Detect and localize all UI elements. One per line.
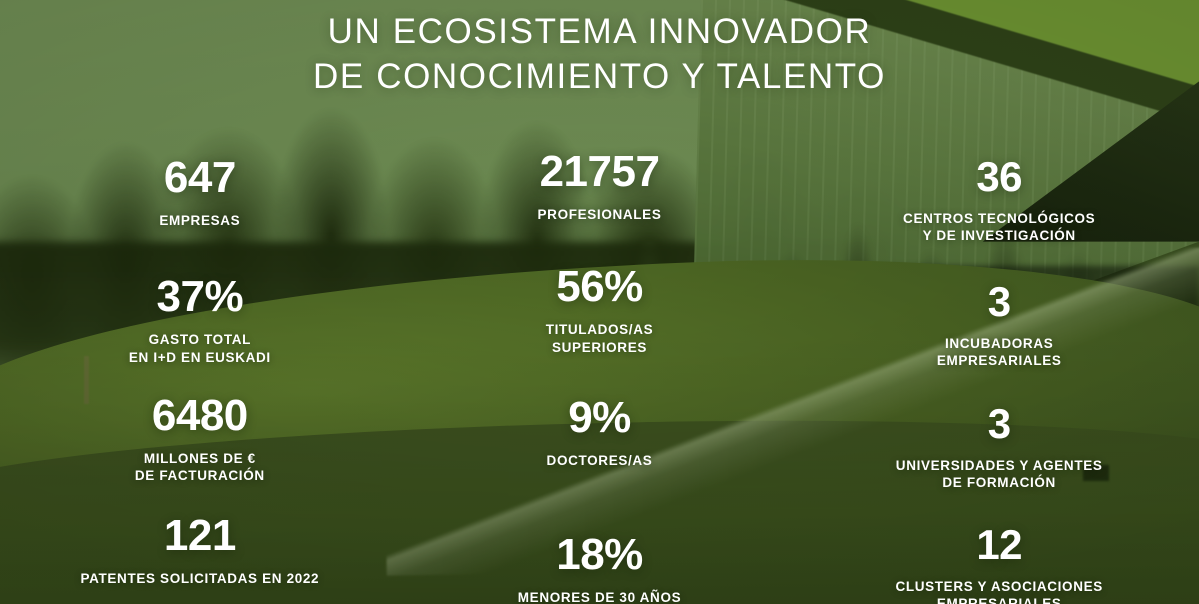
stat-label: MILLONES DE € DE FACTURACIÓN xyxy=(0,450,400,485)
stat-value: 647 xyxy=(0,156,400,200)
stat-label-line-1: CLUSTERS Y ASOCIACIONES xyxy=(799,578,1199,595)
stat-label: PROFESIONALES xyxy=(400,206,800,223)
stat-label: EMPRESAS xyxy=(0,212,400,229)
stat-value: 3 xyxy=(799,403,1199,445)
stats-column-3: 36 CENTROS TECNOLÓGICOS Y DE INVESTIGACI… xyxy=(799,150,1199,604)
stat-label: PATENTES SOLICITADAS EN 2022 xyxy=(0,570,400,587)
stat-patentes: 121 PATENTES SOLICITADAS EN 2022 xyxy=(0,514,400,587)
stat-centros-tecnologicos: 36 CENTROS TECNOLÓGICOS Y DE INVESTIGACI… xyxy=(799,156,1199,245)
stat-label: DOCTORES/AS xyxy=(400,452,800,469)
stat-value: 121 xyxy=(0,514,400,558)
slide-content: UN ECOSISTEMA INNOVADOR DE CONOCIMIENTO … xyxy=(0,0,1199,604)
stat-millones-facturacion: 6480 MILLONES DE € DE FACTURACIÓN xyxy=(0,394,400,485)
stat-label-line-1: EMPRESAS xyxy=(0,212,400,229)
stat-label: TITULADOS/AS SUPERIORES xyxy=(400,321,800,356)
stat-label-line-1: CENTROS TECNOLÓGICOS xyxy=(799,210,1199,227)
stats-column-2: 21757 PROFESIONALES 56% TITULADOS/AS SUP… xyxy=(400,150,800,604)
page-title-line-1: UN ECOSISTEMA INNOVADOR xyxy=(0,10,1199,55)
page-title: UN ECOSISTEMA INNOVADOR DE CONOCIMIENTO … xyxy=(0,10,1199,100)
stat-label-line-2: Y DE INVESTIGACIÓN xyxy=(799,227,1199,244)
stat-titulados-superiores: 56% TITULADOS/AS SUPERIORES xyxy=(400,265,800,356)
stat-label-line-2: SUPERIORES xyxy=(400,339,800,356)
page-title-line-2: DE CONOCIMIENTO Y TALENTO xyxy=(0,55,1199,100)
stat-label: UNIVERSIDADES Y AGENTES DE FORMACIÓN xyxy=(799,457,1199,492)
stat-value: 18% xyxy=(400,533,800,577)
stat-universidades: 3 UNIVERSIDADES Y AGENTES DE FORMACIÓN xyxy=(799,403,1199,492)
stat-doctores: 9% DOCTORES/AS xyxy=(400,396,800,469)
stats-column-1: 647 EMPRESAS 37% GASTO TOTAL EN I+D EN E… xyxy=(0,150,400,604)
stat-value: 37% xyxy=(0,275,400,319)
stat-value: 56% xyxy=(400,265,800,309)
stat-label: MENORES DE 30 AÑOS xyxy=(400,589,800,604)
stats-grid: 647 EMPRESAS 37% GASTO TOTAL EN I+D EN E… xyxy=(0,150,1199,604)
stat-label-line-1: PROFESIONALES xyxy=(400,206,800,223)
stat-label-line-1: MILLONES DE € xyxy=(0,450,400,467)
stat-label-line-1: INCUBADORAS xyxy=(799,335,1199,352)
stat-label-line-1: GASTO TOTAL xyxy=(0,331,400,348)
stat-label: CENTROS TECNOLÓGICOS Y DE INVESTIGACIÓN xyxy=(799,210,1199,245)
stat-value: 36 xyxy=(799,156,1199,198)
stat-label: CLUSTERS Y ASOCIACIONES EMPRESARIALES xyxy=(799,578,1199,604)
stat-value: 6480 xyxy=(0,394,400,438)
stat-value: 3 xyxy=(799,281,1199,323)
stat-empresas: 647 EMPRESAS xyxy=(0,156,400,229)
stat-value: 12 xyxy=(799,524,1199,566)
stat-label-line-1: TITULADOS/AS xyxy=(400,321,800,338)
stat-menores-30: 18% MENORES DE 30 AÑOS xyxy=(400,533,800,604)
stat-value: 9% xyxy=(400,396,800,440)
stat-value: 21757 xyxy=(400,150,800,194)
stat-label-line-1: UNIVERSIDADES Y AGENTES xyxy=(799,457,1199,474)
stat-label: INCUBADORAS EMPRESARIALES xyxy=(799,335,1199,370)
stat-label: GASTO TOTAL EN I+D EN EUSKADI xyxy=(0,331,400,366)
stat-profesionales: 21757 PROFESIONALES xyxy=(400,150,800,223)
stat-clusters: 12 CLUSTERS Y ASOCIACIONES EMPRESARIALES xyxy=(799,524,1199,604)
stat-label-line-2: EMPRESARIALES xyxy=(799,595,1199,604)
stat-label-line-2: EMPRESARIALES xyxy=(799,352,1199,369)
infographic-slide: UN ECOSISTEMA INNOVADOR DE CONOCIMIENTO … xyxy=(0,0,1199,604)
stat-label-line-2: DE FACTURACIÓN xyxy=(0,467,400,484)
stat-label-line-1: DOCTORES/AS xyxy=(400,452,800,469)
stat-incubadoras: 3 INCUBADORAS EMPRESARIALES xyxy=(799,281,1199,370)
stat-label-line-2: DE FORMACIÓN xyxy=(799,474,1199,491)
stat-label-line-1: MENORES DE 30 AÑOS xyxy=(400,589,800,604)
stat-gasto-total-id: 37% GASTO TOTAL EN I+D EN EUSKADI xyxy=(0,275,400,366)
stat-label-line-2: EN I+D EN EUSKADI xyxy=(0,349,400,366)
stat-label-line-1: PATENTES SOLICITADAS EN 2022 xyxy=(0,570,400,587)
